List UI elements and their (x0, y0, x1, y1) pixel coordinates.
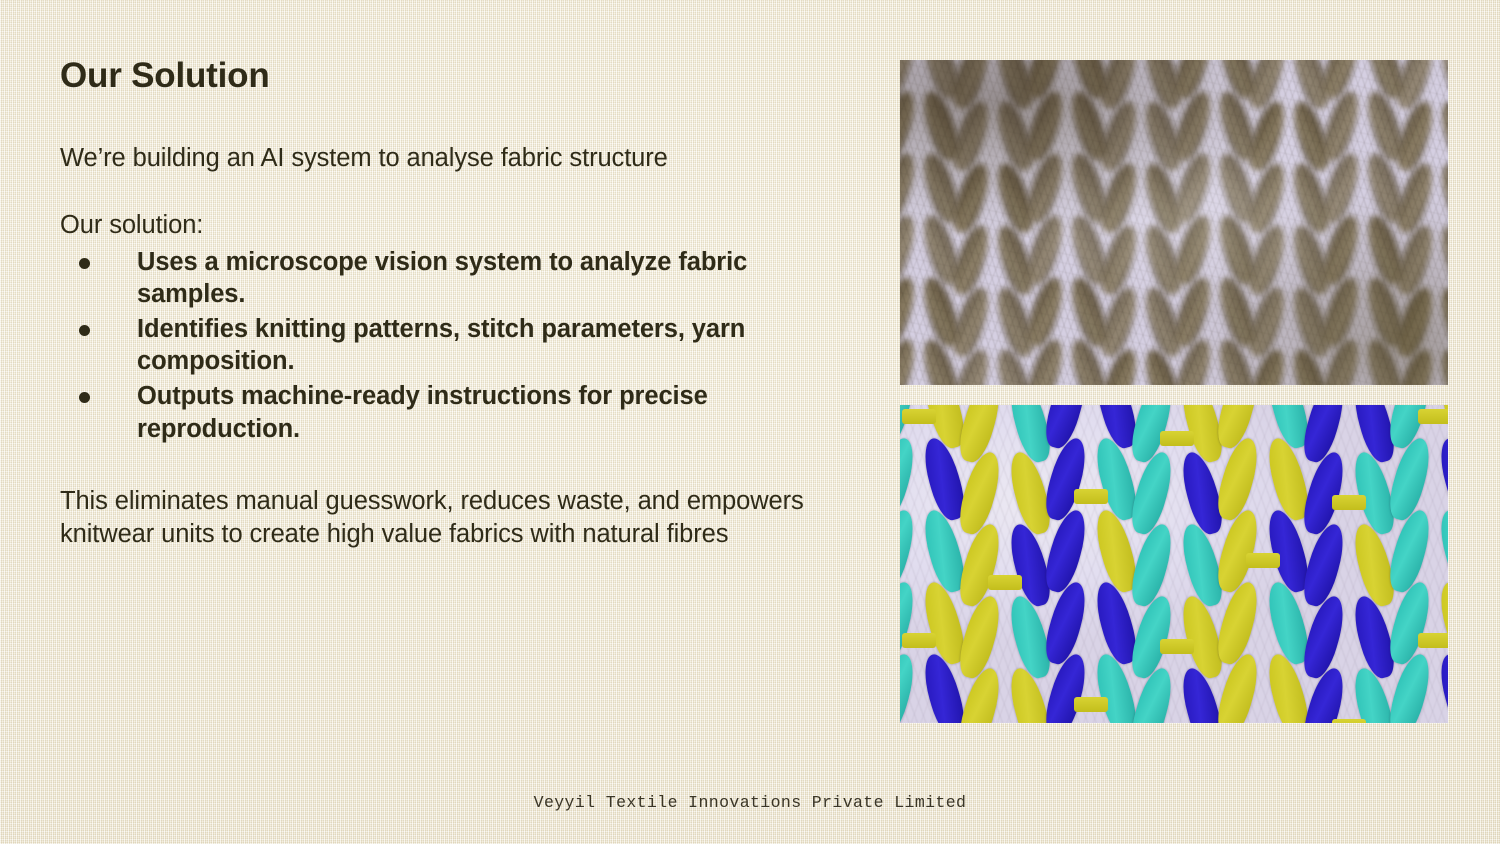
list-item: Identifies knitting patterns, stitch par… (60, 313, 850, 378)
closing-paragraph: This eliminates manual guesswork, reduce… (60, 485, 850, 550)
solution-bullet-list: Uses a microscope vision system to analy… (60, 246, 850, 446)
microscope-fabric-photo (900, 60, 1448, 385)
list-label: Our solution: (60, 209, 850, 242)
list-item-label: Uses a microscope vision system to analy… (137, 248, 747, 309)
list-item: Uses a microscope vision system to analy… (60, 246, 850, 311)
page-title: Our Solution (60, 56, 850, 96)
ai-segmented-fabric-photo (900, 405, 1448, 723)
slide-canvas: Our Solution We’re building an AI system… (0, 0, 1500, 844)
text-column: Our Solution We’re building an AI system… (60, 56, 850, 551)
segmentation-overlay-layer (900, 405, 1448, 723)
list-item-label: Identifies knitting patterns, stitch par… (137, 315, 745, 376)
list-item-label: Outputs machine-ready instructions for p… (137, 382, 708, 443)
bullet-dot-icon (79, 325, 90, 336)
lead-paragraph: We’re building an AI system to analyse f… (60, 142, 850, 175)
bullet-dot-icon (79, 392, 90, 403)
yarn-fuzz-texture (900, 60, 1448, 385)
bullet-dot-icon (79, 258, 90, 269)
footer-company-name: Veyyil Textile Innovations Private Limit… (0, 793, 1500, 812)
image-column (900, 60, 1448, 723)
list-item: Outputs machine-ready instructions for p… (60, 380, 850, 445)
